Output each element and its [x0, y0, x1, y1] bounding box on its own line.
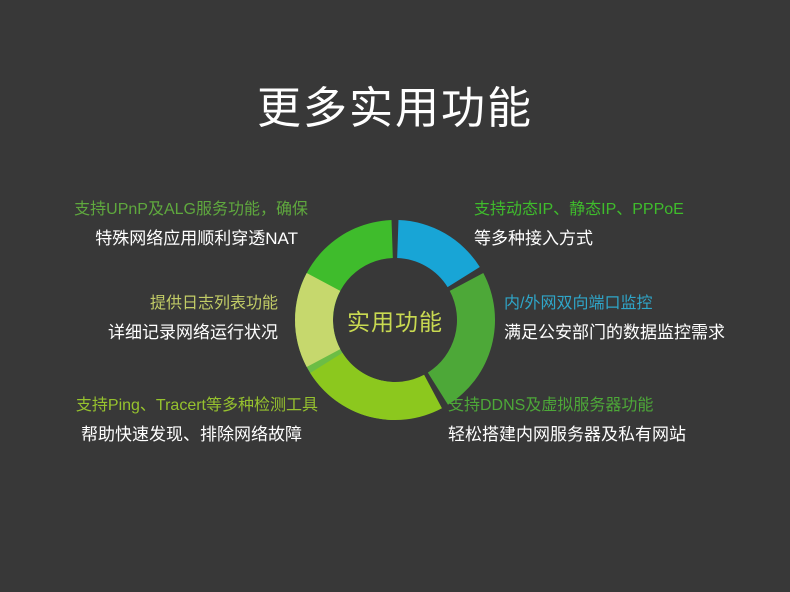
page-title: 更多实用功能	[0, 85, 790, 133]
callout-upnp-subline: 特殊网络应用顺利穿透NAT	[8, 227, 308, 252]
callout-wan-headline: 支持动态IP、静态IP、PPPoE	[474, 198, 774, 221]
callout-ping-headline: 支持Ping、Tracert等多种检测工具	[0, 394, 318, 417]
callout-log-headline: 提供日志列表功能	[38, 292, 278, 315]
donut-svg	[295, 220, 495, 420]
callout-log-subline: 详细记录网络运行状况	[38, 321, 278, 346]
callout-ddns-headline: 支持DDNS及虚拟服务器功能	[448, 394, 778, 417]
callout-upnp: 支持UPnP及ALG服务功能，确保 特殊网络应用顺利穿透NAT	[8, 198, 308, 252]
callout-ping-subline: 帮助快速发现、排除网络故障	[0, 423, 318, 448]
callout-log: 提供日志列表功能 详细记录网络运行状况	[38, 292, 278, 346]
callout-port-subline: 满足公安部门的数据监控需求	[504, 321, 784, 346]
slide-canvas: 更多实用功能 实用功能 支持UPnP及ALG服务功能，确保 特殊网络应用顺利穿透…	[0, 0, 790, 592]
seg-port[interactable]	[397, 220, 480, 287]
callout-ping: 支持Ping、Tracert等多种检测工具 帮助快速发现、排除网络故障	[0, 394, 318, 448]
donut-chart: 实用功能	[295, 220, 495, 420]
seg-ddns[interactable]	[428, 273, 495, 405]
donut-segment-group	[295, 220, 495, 420]
seg-ping[interactable]	[310, 353, 442, 420]
callout-ddns: 支持DDNS及虚拟服务器功能 轻松搭建内网服务器及私有网站	[448, 394, 778, 448]
callout-port-headline: 内/外网双向端口监控	[504, 292, 784, 315]
callout-wan: 支持动态IP、静态IP、PPPoE 等多种接入方式	[474, 198, 774, 252]
callout-wan-subline: 等多种接入方式	[474, 227, 774, 252]
callout-port: 内/外网双向端口监控 满足公安部门的数据监控需求	[504, 292, 784, 346]
callout-upnp-headline: 支持UPnP及ALG服务功能，确保	[8, 198, 308, 221]
callout-ddns-subline: 轻松搭建内网服务器及私有网站	[448, 423, 778, 448]
